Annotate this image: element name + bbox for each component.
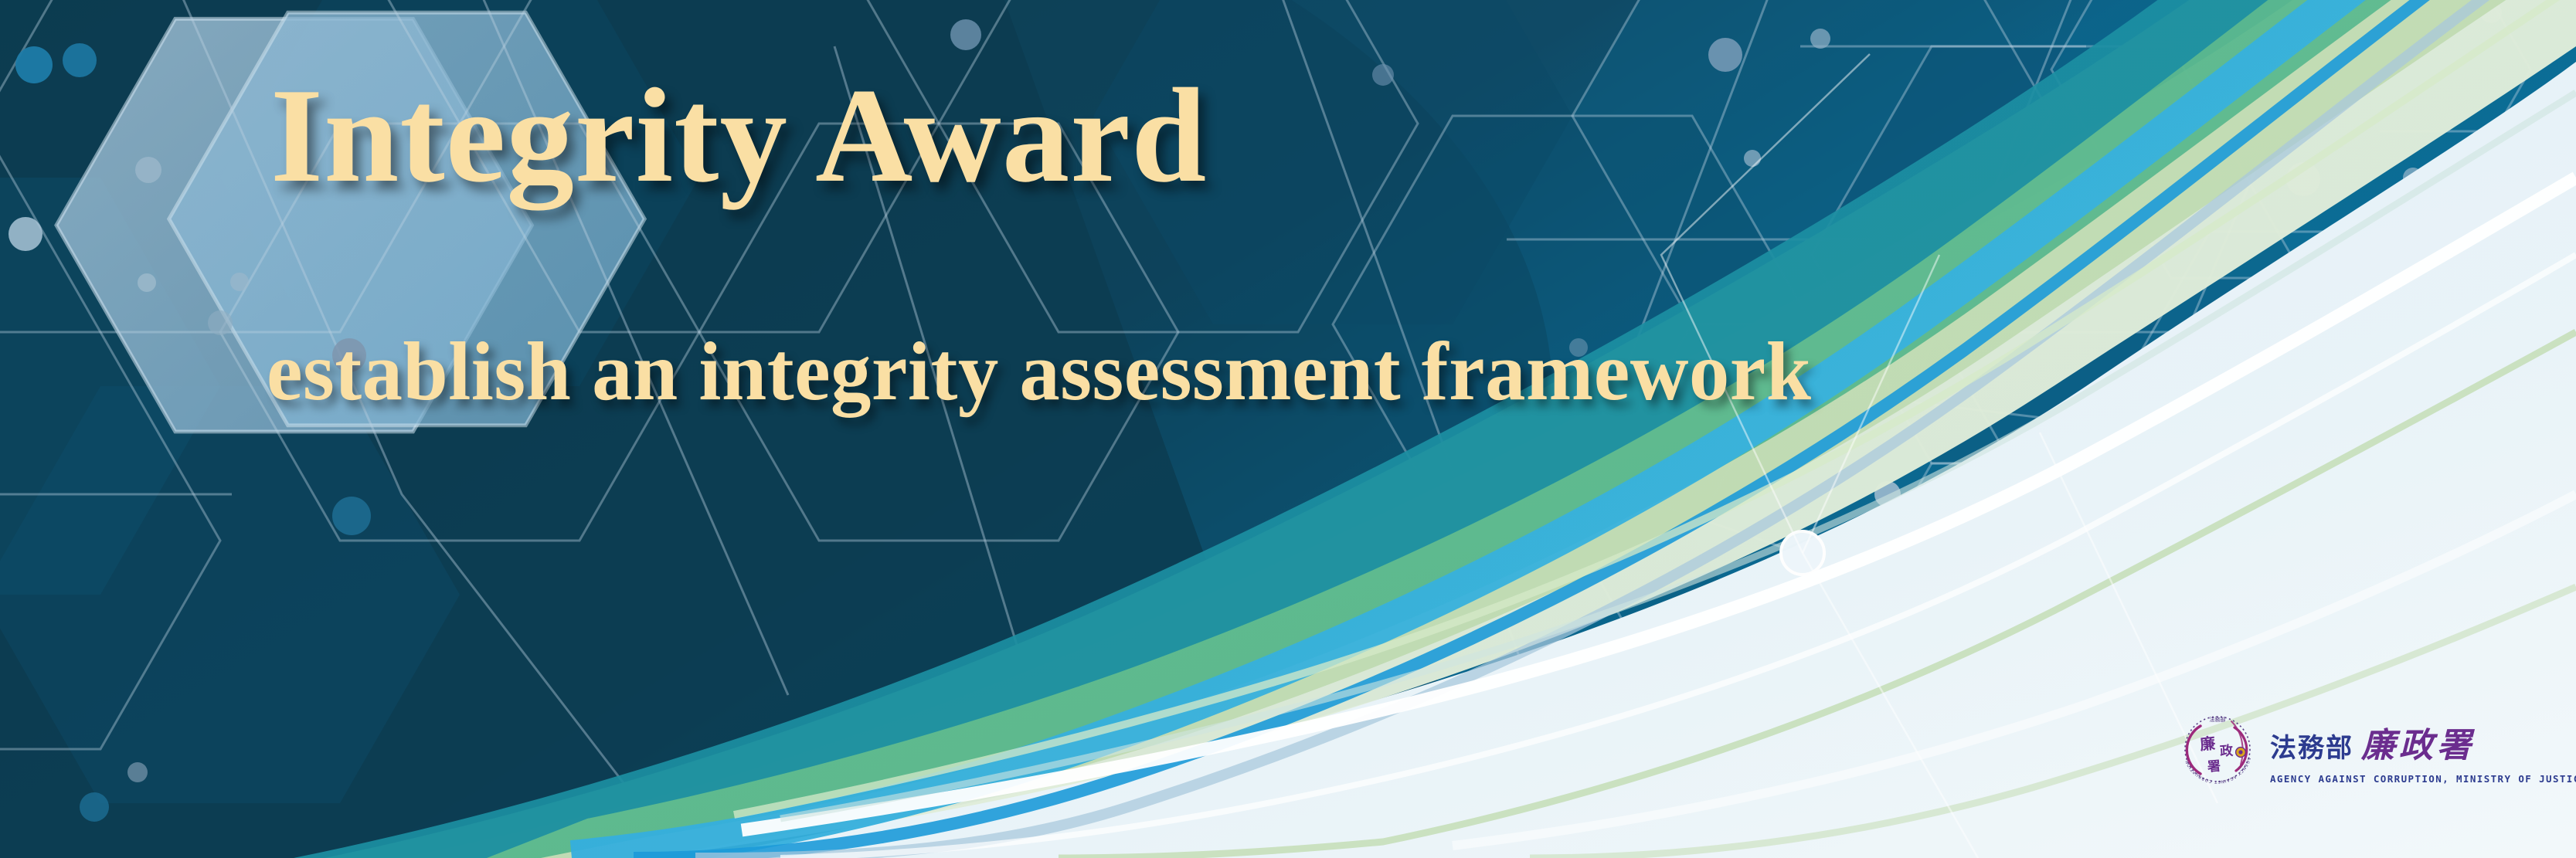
network-node-dot <box>135 157 161 183</box>
agency-wordmark: 法務部 廉政署 AGENCY AGAINST CORRUPTION, MINIS… <box>2270 714 2576 785</box>
wordmark-english: AGENCY AGAINST CORRUPTION, MINISTRY OF J… <box>2270 773 2576 785</box>
wordmark-agency-zh: 廉政署 <box>2361 717 2475 767</box>
seal-center-char-2: 政 <box>2219 742 2234 759</box>
agency-seal-icon: AGENCY AGAINST CORRUPTION 法務部 廉 政 署 <box>2177 709 2258 789</box>
network-node-dot <box>230 273 249 291</box>
agency-logo-lockup[interactable]: AGENCY AGAINST CORRUPTION 法務部 廉 政 署 法務部 <box>2177 709 2576 789</box>
network-node-dot <box>1708 38 1742 72</box>
network-node-dot <box>15 46 53 83</box>
network-node-dot <box>1810 29 1830 49</box>
seal-center-char-3: 署 <box>2206 758 2221 775</box>
network-node-dot <box>127 762 148 782</box>
network-node-dot <box>1569 338 1588 357</box>
integrity-award-banner: Integrity Award establish an integrity a… <box>0 0 2576 858</box>
network-node-dot <box>138 273 156 292</box>
seal-center-char-1: 廉 <box>2199 734 2216 754</box>
network-node-dot <box>208 310 233 335</box>
network-node-dot <box>1372 64 1394 86</box>
wordmark-row: 法務部 廉政署 <box>2270 717 2576 767</box>
network-node-dot <box>8 217 42 251</box>
seal-emblem-core <box>2238 750 2242 754</box>
network-node-dot <box>332 497 371 535</box>
network-node-dot <box>80 792 109 822</box>
network-node-dot <box>63 43 97 77</box>
seal-top-text: 法務部 <box>2210 716 2226 723</box>
network-node-dot <box>1744 150 1761 167</box>
network-node-dot <box>950 19 981 50</box>
network-node-dot <box>332 338 366 372</box>
wordmark-ministry-zh: 法務部 <box>2270 727 2353 765</box>
